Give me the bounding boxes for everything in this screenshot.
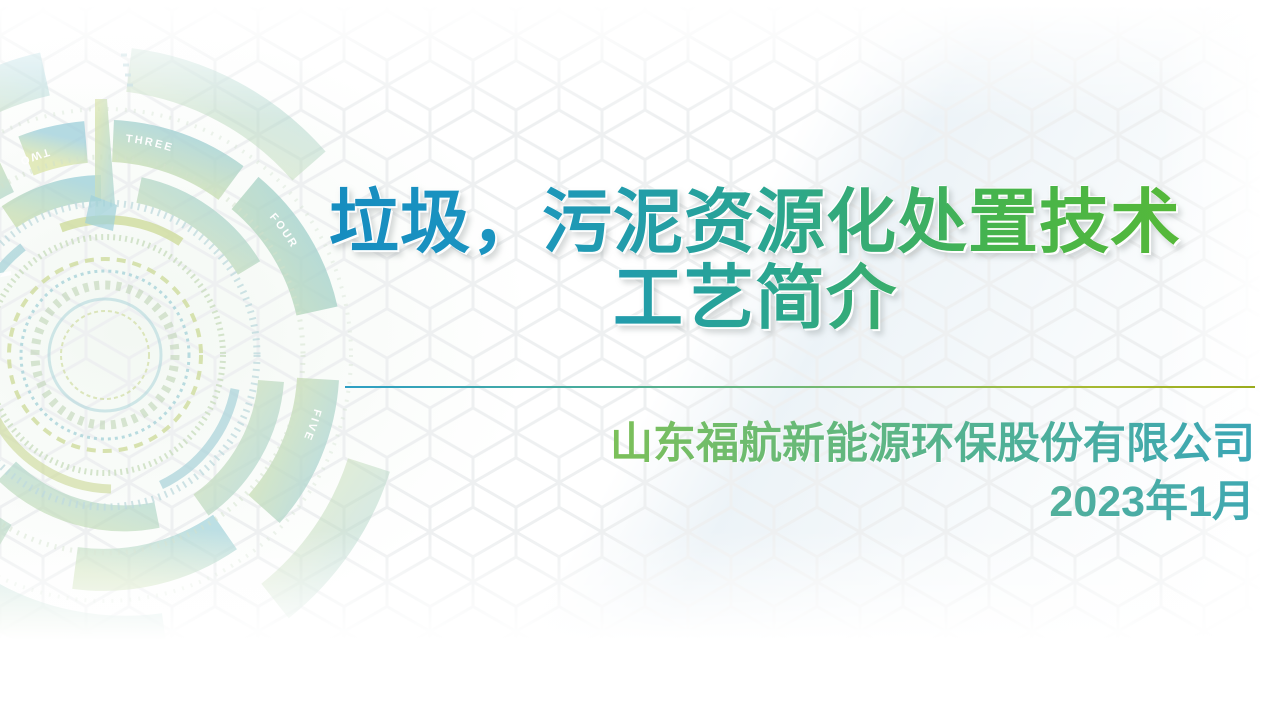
slide-content: 垃圾，污泥资源化处置技术 工艺简介 山东福航新能源环保股份有限公司 2023年1… <box>0 0 1280 720</box>
title-line-2: 工艺简介 <box>250 261 1260 335</box>
title-line-1: 垃圾，污泥资源化处置技术 <box>250 185 1260 259</box>
presentation-slide: ONE TWO THREE FOUR FIVE <box>0 0 1280 720</box>
slide-subtitle: 山东福航新能源环保股份有限公司 2023年1月 <box>300 418 1255 528</box>
title-divider-line <box>345 386 1255 388</box>
presentation-date: 2023年1月 <box>300 476 1255 528</box>
company-name: 山东福航新能源环保股份有限公司 <box>300 418 1255 470</box>
slide-title: 垃圾，污泥资源化处置技术 工艺简介 <box>250 185 1260 335</box>
